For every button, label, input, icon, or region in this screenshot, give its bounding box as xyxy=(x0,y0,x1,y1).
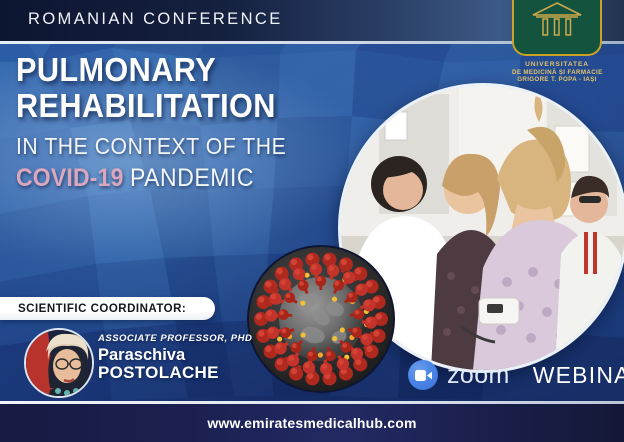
speaker-first-name: Paraschiva xyxy=(98,346,328,364)
zoom-webinar-block: zoom WEBINAR xyxy=(408,360,624,390)
university-line-3: GRIGORE T. POPA - IAȘI xyxy=(512,76,602,83)
scientific-coordinator-ribbon: SCIENTIFIC COORDINATOR: xyxy=(0,297,215,320)
camera-glyph-icon xyxy=(415,370,432,381)
headline-block: PULMONARY REHABILITATION IN THE CONTEXT … xyxy=(16,54,356,191)
conference-banner: ROMANIAN CONFERENCE UNIVERSITATEA DE MED… xyxy=(0,0,624,442)
website-url: www.emiratesmedicalhub.com xyxy=(207,415,416,431)
speaker-portrait-icon xyxy=(26,330,92,396)
university-line-2: DE MEDICINĂ ȘI FARMACIE xyxy=(512,69,602,76)
speaker-block: ASSOCIATE PROFESSOR, PHD Paraschiva POST… xyxy=(98,333,328,383)
covid-word: COVID-19 xyxy=(16,164,124,192)
speaker-last-name: POSTOLACHE xyxy=(98,364,328,383)
zoom-wordmark: zoom xyxy=(447,363,510,388)
webinar-label: WEBINAR xyxy=(533,364,624,387)
university-line-1: UNIVERSITATEA xyxy=(512,61,602,69)
covid-line: COVID-19 PANDEMIC xyxy=(16,165,329,191)
shield-icon xyxy=(512,0,602,56)
university-columns-icon xyxy=(530,2,584,42)
conference-kicker: ROMANIAN CONFERENCE xyxy=(28,10,283,29)
avatar xyxy=(24,328,94,398)
speaker-role: ASSOCIATE PROFESSOR, PHD xyxy=(98,333,328,344)
title-line-2: REHABILITATION xyxy=(16,90,332,122)
ribbon-label: SCIENTIFIC COORDINATOR: xyxy=(18,303,186,315)
university-logo: UNIVERSITATEA DE MEDICINĂ ȘI FARMACIE GR… xyxy=(512,0,602,83)
university-name: UNIVERSITATEA DE MEDICINĂ ȘI FARMACIE GR… xyxy=(512,61,602,83)
pandemic-word: PANDEMIC xyxy=(130,164,254,192)
footer-bar: www.emiratesmedicalhub.com xyxy=(0,404,624,442)
video-camera-icon xyxy=(408,360,438,390)
title-line-1: PULMONARY xyxy=(16,54,332,86)
subtitle-line: IN THE CONTEXT OF THE xyxy=(16,134,329,158)
